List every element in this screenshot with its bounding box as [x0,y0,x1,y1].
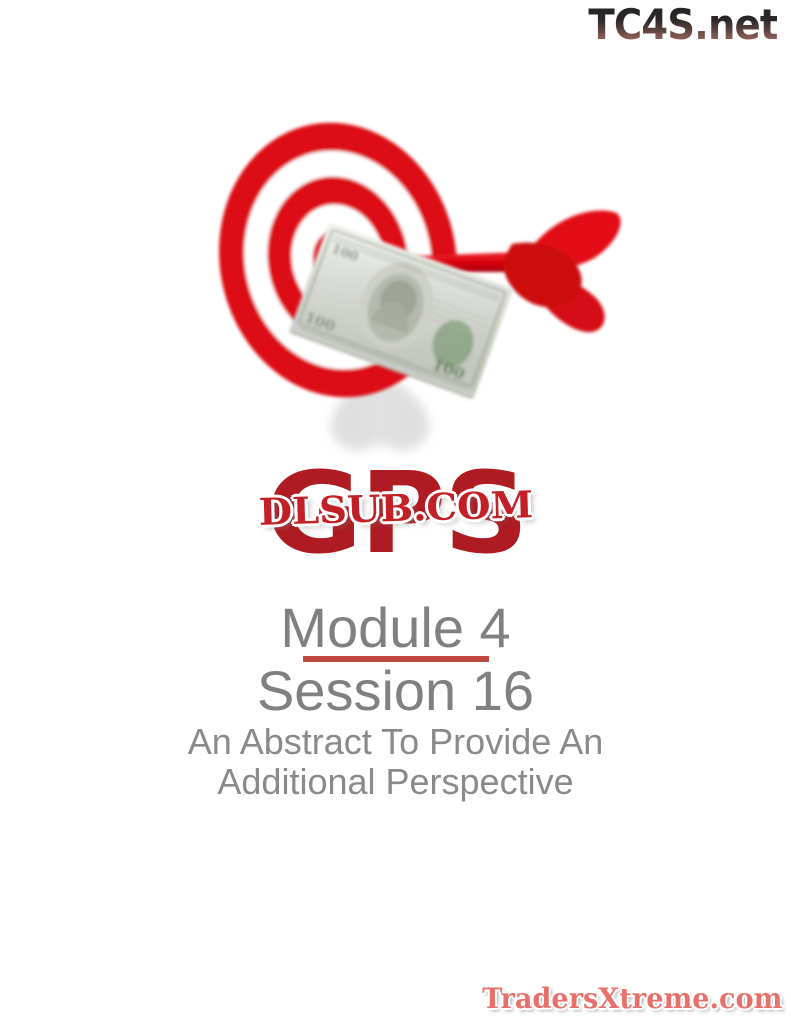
subtitle-line-2: Additional Perspective [0,762,791,802]
title-block: Module 4 Session 16 [0,598,791,721]
subtitle-block: An Abstract To Provide An Additional Per… [0,722,791,802]
module-title: Module 4 [0,598,791,658]
target-dart-money-illustration: 100 100 100 [0,120,791,480]
brand-logo-tc4s: TC4S.net [588,4,777,46]
gps-wordmark: GPS [0,455,791,573]
hero-illustration-svg: 100 100 100 [0,120,791,480]
tradersxtreme-watermark: TradersXtreme.com [482,984,782,1014]
session-title: Session 16 [0,661,791,721]
subtitle-line-1: An Abstract To Provide An [0,722,791,762]
